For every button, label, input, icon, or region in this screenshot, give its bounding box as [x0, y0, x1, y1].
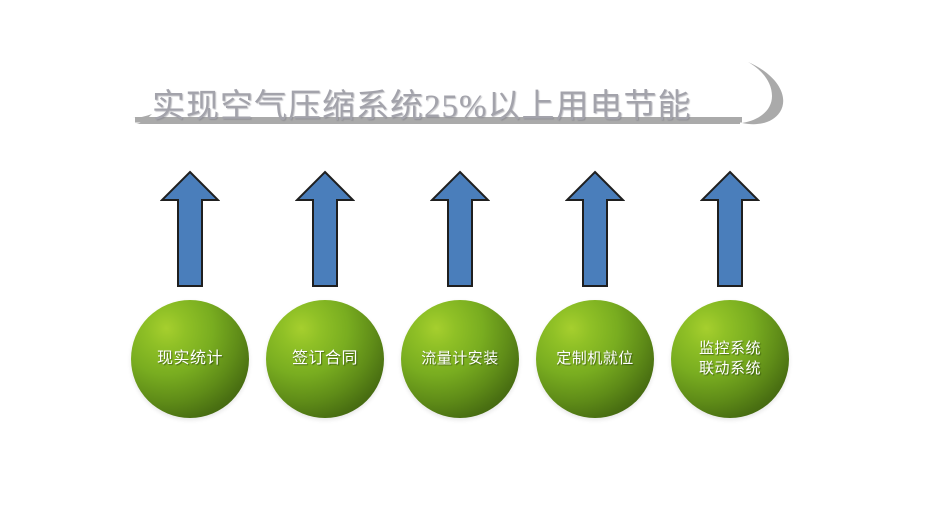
up-arrow-icon-1	[160, 170, 220, 288]
page-title: 实现空气压缩系统25%以上用电节能	[152, 80, 772, 134]
title-banner: 实现空气压缩系统25%以上用电节能	[0, 34, 945, 134]
up-arrow-icon-3	[430, 170, 490, 288]
slide-canvas: 实现空气压缩系统25%以上用电节能 现实统计 签订合同 流量计安装	[0, 0, 945, 529]
up-arrow-icon-4	[565, 170, 625, 288]
up-arrow-icon-5	[700, 170, 760, 288]
process-step-5-label: 监控系统 联动系统	[695, 339, 765, 380]
process-step-2[interactable]: 签订合同	[266, 300, 384, 418]
process-step-4-label: 定制机就位	[552, 350, 638, 369]
process-step-4[interactable]: 定制机就位	[536, 300, 654, 418]
process-step-1-label: 现实统计	[153, 349, 227, 369]
process-step-2-label: 签订合同	[288, 349, 362, 369]
process-step-1[interactable]: 现实统计	[131, 300, 249, 418]
process-step-3-label: 流量计安装	[417, 350, 503, 369]
process-step-3[interactable]: 流量计安装	[401, 300, 519, 418]
up-arrow-icon-2	[295, 170, 355, 288]
process-step-5[interactable]: 监控系统 联动系统	[671, 300, 789, 418]
